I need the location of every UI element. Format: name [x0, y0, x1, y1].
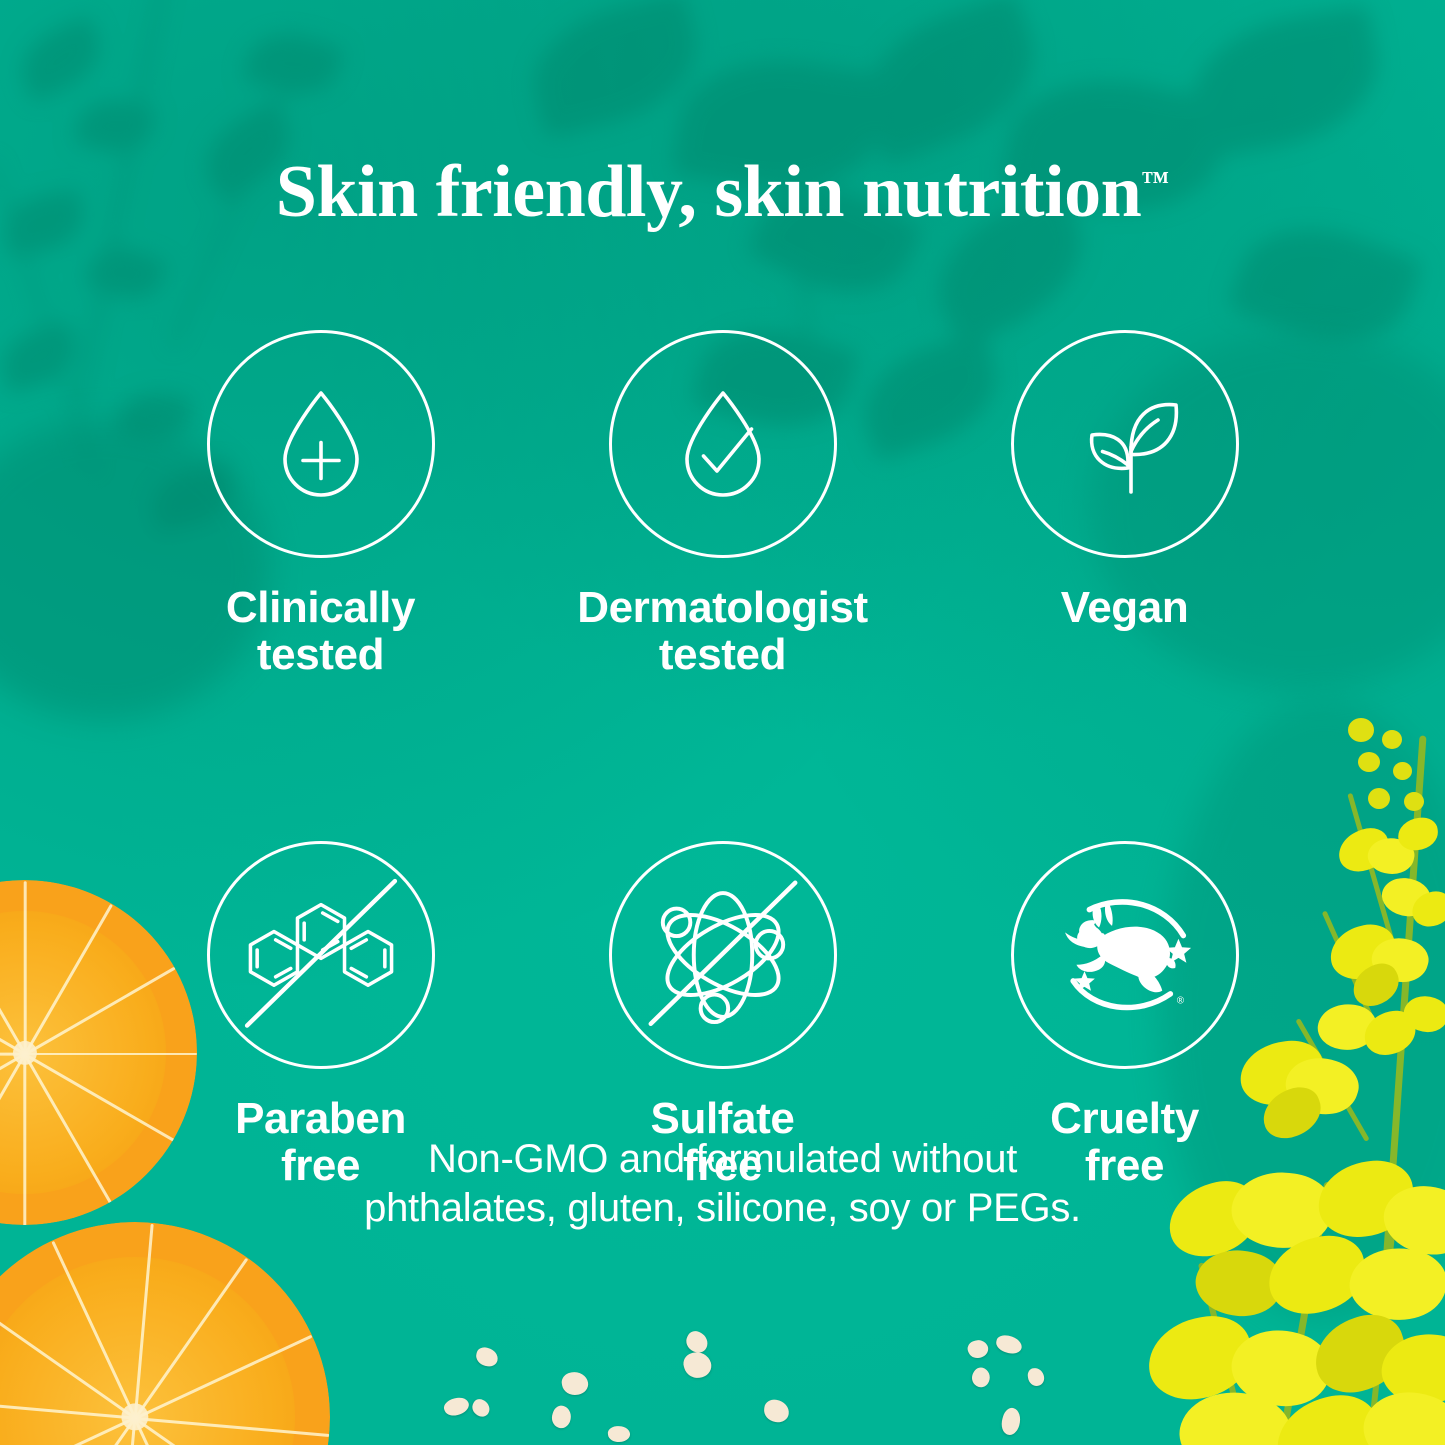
headline-text: Skin friendly, skin nutrition [276, 151, 1142, 233]
badge-circle [609, 841, 837, 1069]
badge-vegan: Vegan [1009, 330, 1241, 631]
badge-circle [207, 841, 435, 1069]
badge-circle [609, 330, 837, 558]
badge-label: Dermatologist tested [577, 584, 868, 678]
badge-circle: ® [1011, 841, 1239, 1069]
droplet-plus-icon [246, 369, 396, 519]
trademark-symbol: ™ [1141, 166, 1169, 197]
badge-circle [1011, 330, 1239, 558]
badge-dermatologist-tested: Dermatologist tested [607, 330, 839, 678]
leaping-bunny-icon: ® [1044, 874, 1206, 1036]
page-title: Skin friendly, skin nutrition™ [0, 150, 1445, 235]
badge-label: Vegan [1061, 584, 1189, 631]
droplet-check-icon [648, 369, 798, 519]
badge-clinically-tested: Clinically tested [205, 330, 437, 678]
claims-row-1: Clinically tested Dermatologist tested [0, 330, 1445, 678]
atom-slash-icon [637, 869, 809, 1041]
svg-text:®: ® [1176, 996, 1184, 1007]
leaf-sprout-icon [1050, 369, 1200, 519]
molecule-slash-icon [237, 871, 405, 1039]
badge-circle [207, 330, 435, 558]
claims-grid: Clinically tested Dermatologist tested [0, 330, 1445, 1189]
promo-graphic: Skin friendly, skin nutrition™ Clinicall… [0, 0, 1445, 1445]
badge-label: Clinically tested [226, 584, 415, 678]
